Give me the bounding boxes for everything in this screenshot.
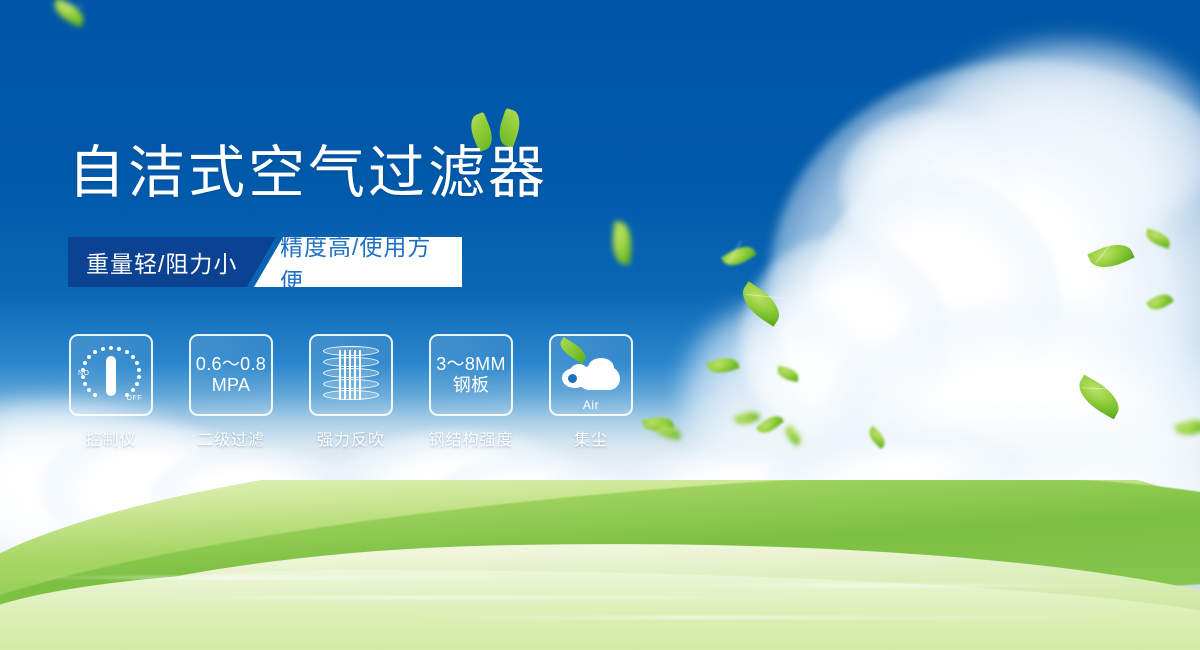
air-cloud-icon-box: Air [549,334,633,416]
subtitle-left: 重量轻/阻力小 [68,237,276,287]
filter-coil-icon [323,344,379,406]
dial-label-on: NO [78,370,90,377]
filter-coil-icon-box [309,334,393,416]
feature-label: 强力反吹 [317,426,385,450]
feature-label: 二级过滤 [197,426,265,450]
subtitle-badge: 重量轻/阻力小 精度高/使用方便 [68,237,462,287]
feature-item-dust[interactable]: Air 集尘 [548,334,634,450]
subtitle-right: 精度高/使用方便 [254,237,462,287]
steel-line-2: 钢板 [453,375,490,396]
air-label: Air [560,398,622,412]
pressure-line-2: MPA [212,375,251,396]
control-dial-icon-box: NO OFF [69,334,153,416]
grass-field [0,480,1200,650]
grass-streak [120,596,820,599]
product-hero-banner: 自洁式空气过滤器 重量轻/阻力小 精度高/使用方便 [0,0,1200,650]
page-title: 自洁式空气过滤器 [68,140,548,207]
dial-label-off: OFF [127,395,143,402]
feature-label: 集尘 [574,426,608,450]
grass-streak [0,576,560,579]
control-dial-icon: NO OFF [78,344,144,406]
pressure-value-icon-box: 0.6～0.8 MPA [189,334,273,416]
feature-list: NO OFF 控制仪 0.6～0.8 MPA 二级过滤 [68,334,634,450]
leaf-accent-icon [557,337,589,364]
feature-item-steel[interactable]: 3～8MM 钢板 钢结构强度 [428,334,514,450]
feature-item-pressure[interactable]: 0.6～0.8 MPA 二级过滤 [188,334,274,450]
feature-item-control[interactable]: NO OFF 控制仪 [68,334,154,450]
feature-label: 控制仪 [85,426,136,450]
steel-line-1: 3～8MM [436,354,506,375]
dial-needle [106,356,116,396]
grass-streak [640,584,1160,587]
floating-leaf [721,241,757,272]
grass-streak [380,616,1140,619]
floating-leaf [610,221,634,265]
steel-plate-icon-box: 3～8MM 钢板 [429,334,513,416]
pressure-line-1: 0.6～0.8 [196,354,266,375]
floating-leaf [50,0,88,28]
coil-bars [339,350,363,400]
feature-label: 钢结构强度 [428,426,513,450]
air-cloud-icon: Air [560,350,622,400]
feature-item-backblow[interactable]: 强力反吹 [308,334,394,450]
